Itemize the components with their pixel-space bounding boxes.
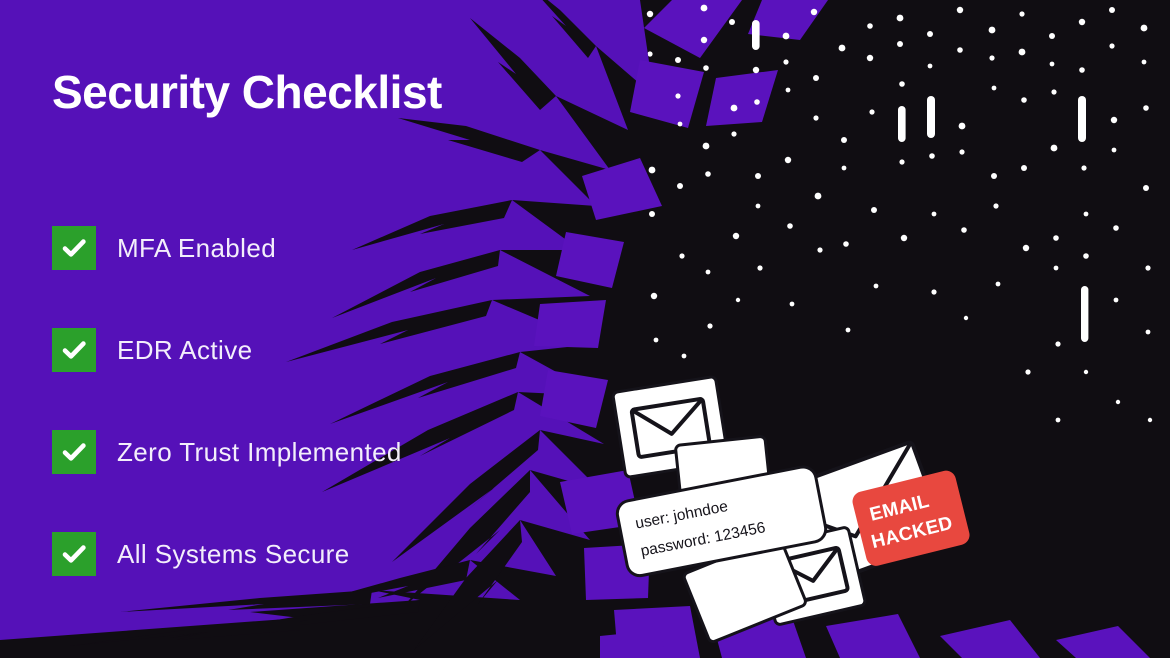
check-icon: [52, 430, 96, 474]
checklist-item[interactable]: MFA Enabled: [52, 226, 512, 270]
check-icon: [52, 532, 96, 576]
security-checklist-graphic: Security Checklist MFA Enabled EDR Activ…: [0, 0, 1170, 658]
checklist-item-label: EDR Active: [117, 335, 253, 366]
check-icon: [52, 226, 96, 270]
email-breach-cluster: user: johndoe password: 123456 EMAIL HAC…: [600, 378, 1000, 638]
check-icon: [52, 328, 96, 372]
checklist-item-label: All Systems Secure: [117, 539, 350, 570]
checklist-item[interactable]: Zero Trust Implemented: [52, 430, 512, 474]
checklist-item[interactable]: EDR Active: [52, 328, 512, 372]
checklist-item-label: MFA Enabled: [117, 233, 276, 264]
checklist: MFA Enabled EDR Active Zero Trust Implem…: [52, 226, 512, 634]
page-title: Security Checklist: [52, 68, 442, 116]
checklist-item[interactable]: All Systems Secure: [52, 532, 512, 576]
checklist-item-label: Zero Trust Implemented: [117, 437, 402, 468]
